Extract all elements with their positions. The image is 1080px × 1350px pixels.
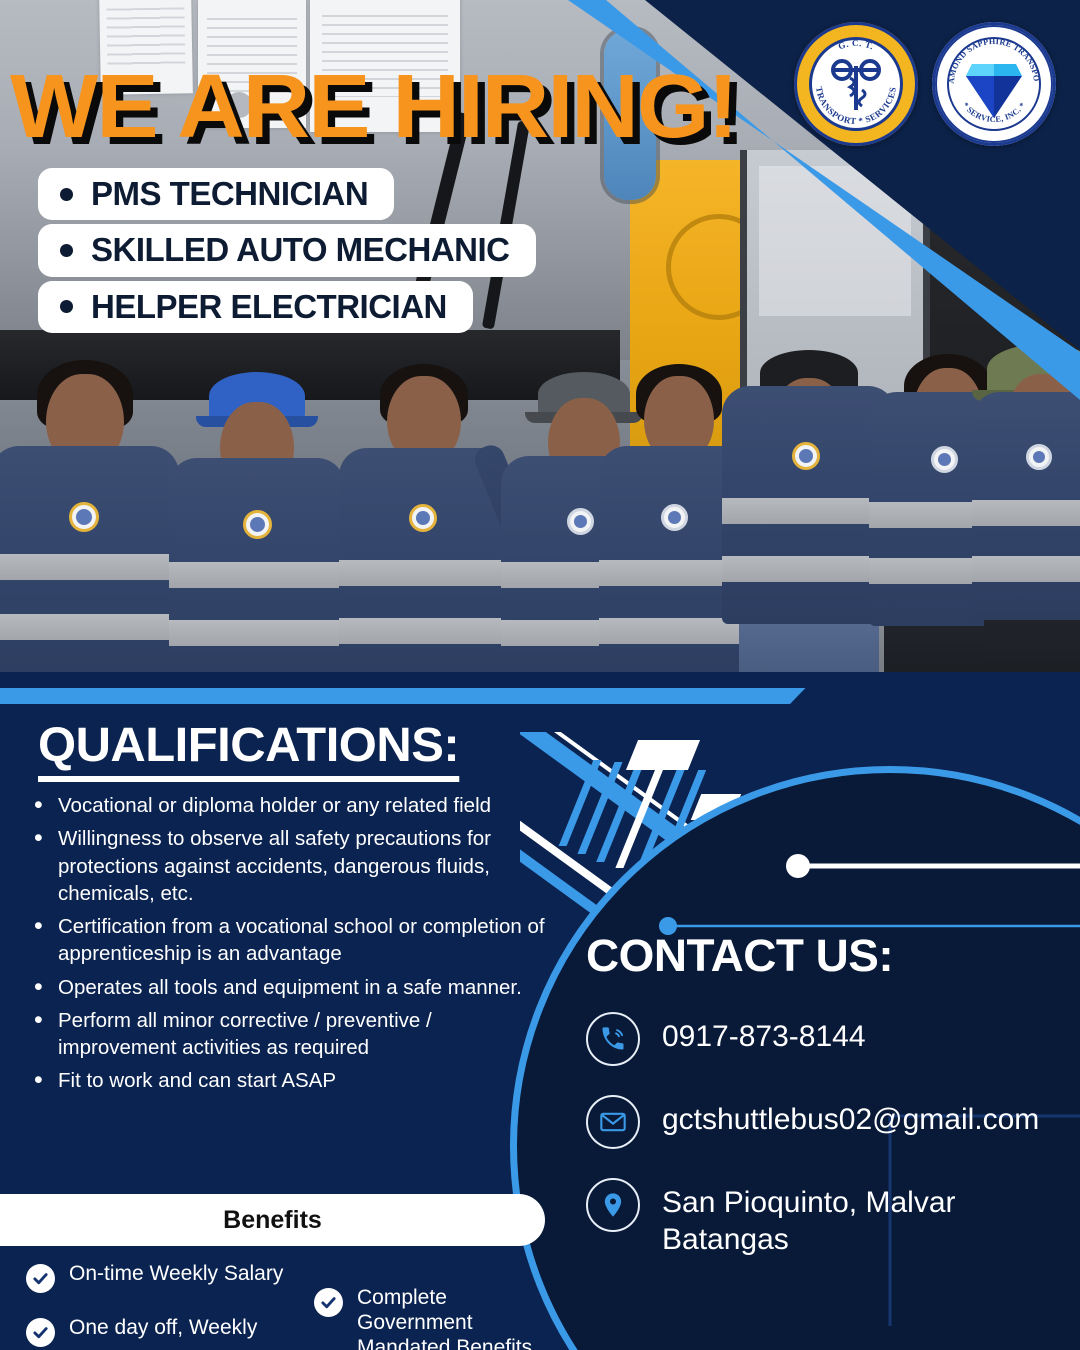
contact-email-row[interactable]: gctshuttlebus02@gmail.com (586, 1095, 1066, 1149)
bullet-icon (60, 188, 73, 201)
location-pin-icon (586, 1178, 640, 1232)
worker (168, 372, 346, 690)
bullet-icon (60, 300, 73, 313)
benefits-title: Benefits (223, 1206, 322, 1235)
benefit-label: Complete Government Mandated Benefits (357, 1286, 564, 1350)
qualifications-list: Vocational or diploma holder or any rela… (26, 792, 546, 1101)
job-list: PMS TECHNICIAN SKILLED AUTO MECHANIC HEL… (38, 168, 536, 337)
job-item: SKILLED AUTO MECHANIC (38, 224, 536, 276)
phone-number: 0917-873-8144 (662, 1012, 866, 1056)
benefit-item: One day off, Weekly (26, 1316, 316, 1347)
qualification-item: Fit to work and can start ASAP (26, 1067, 546, 1094)
benefit-label: On-time Weekly Salary (69, 1262, 283, 1287)
contact-address-row[interactable]: San Pioquinto, Malvar Batangas (586, 1178, 1066, 1258)
check-icon (26, 1318, 55, 1347)
contact-phone-row[interactable]: 0917-873-8144 (586, 1012, 1066, 1066)
job-item: HELPER ELECTRICIAN (38, 281, 473, 333)
benefit-label: One day off, Weekly (69, 1316, 257, 1341)
benefit-item: Complete Government Mandated Benefits (314, 1286, 564, 1350)
worker (0, 360, 180, 690)
office-address: San Pioquinto, Malvar Batangas (662, 1178, 1066, 1258)
hiring-poster: G. C. T. TRANSPORT * SERVICES DIAMOND (0, 0, 1080, 1350)
check-icon (314, 1288, 343, 1317)
qualification-item: Operates all tools and equipment in a sa… (26, 974, 546, 1001)
check-icon (26, 1264, 55, 1293)
job-label: SKILLED AUTO MECHANIC (91, 231, 510, 269)
worker (338, 364, 510, 690)
svg-text:G. C. T.: G. C. T. (837, 38, 876, 52)
job-label: HELPER ELECTRICIAN (91, 288, 447, 326)
company-logos: G. C. T. TRANSPORT * SERVICES DIAMOND (794, 22, 1056, 146)
contact-info: CONTACT US: 0917-873-8144 gctshuttlebus0… (586, 930, 1066, 1287)
job-item: PMS TECHNICIAN (38, 168, 394, 220)
benefit-item: On-time Weekly Salary (26, 1262, 316, 1293)
page-title: WE ARE HIRING! (10, 62, 737, 152)
qualification-item: Vocational or diploma holder or any rela… (26, 792, 546, 819)
worker (972, 344, 1080, 690)
qualification-item: Perform all minor corrective / preventiv… (26, 1007, 546, 1062)
gct-logo: G. C. T. TRANSPORT * SERVICES (794, 22, 918, 146)
phone-icon (586, 1012, 640, 1066)
bullet-icon (60, 244, 73, 257)
qualification-item: Certification from a vocational school o… (26, 913, 546, 968)
qualification-item: Willingness to observe all safety precau… (26, 825, 546, 907)
envelope-icon (586, 1095, 640, 1149)
contact-title: CONTACT US: (586, 930, 1076, 982)
job-label: PMS TECHNICIAN (91, 175, 368, 213)
diamond-sapphire-logo: DIAMOND SAPPHIRE TRANSPORT * SERVICE, IN… (932, 22, 1056, 146)
email-address: gctshuttlebus02@gmail.com (662, 1095, 1039, 1139)
qualifications-title: QUALIFICATIONS: (38, 718, 459, 782)
benefits-title-pill: Benefits (0, 1194, 545, 1246)
